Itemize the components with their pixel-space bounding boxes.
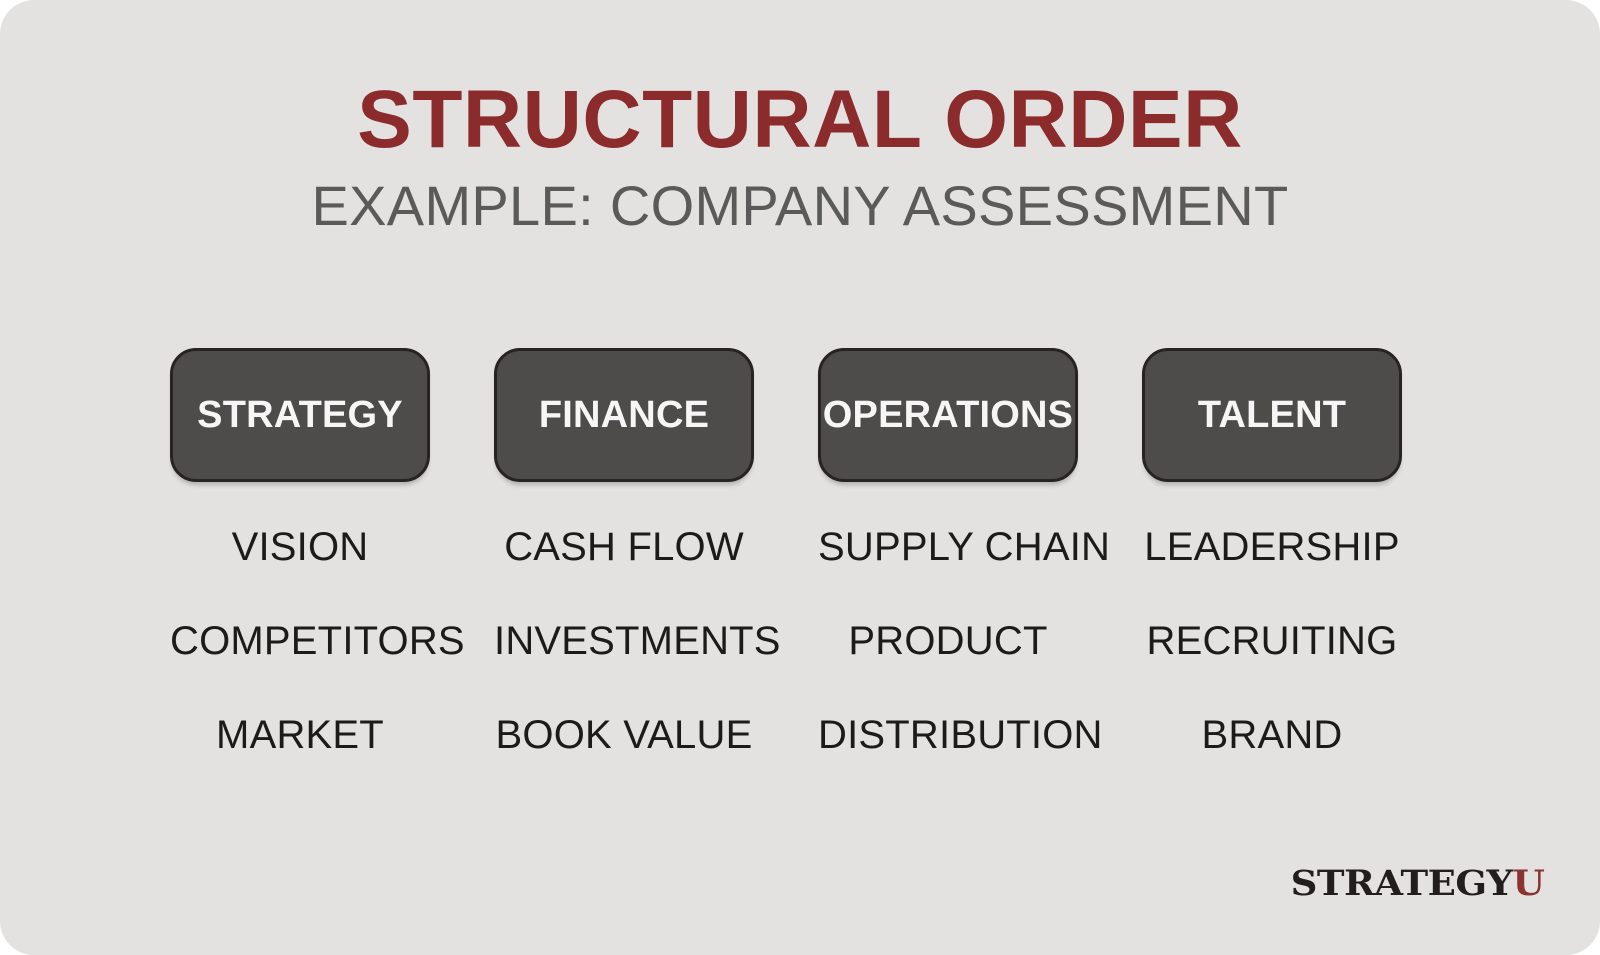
- list-item: COMPETITORS: [170, 594, 430, 688]
- list-item: LEADERSHIP: [1142, 500, 1402, 594]
- category-label: OPERATIONS: [823, 395, 1073, 435]
- list-item: SUPPLY CHAIN: [818, 500, 1078, 594]
- list-item: BRAND: [1142, 688, 1402, 782]
- category-label: FINANCE: [539, 395, 709, 435]
- column-talent: TALENT LEADERSHIP RECRUITING BRAND: [1142, 348, 1402, 798]
- item-list-talent: LEADERSHIP RECRUITING BRAND: [1142, 482, 1402, 782]
- list-item: DISTRIBUTION: [818, 688, 1078, 782]
- category-label: TALENT: [1198, 395, 1346, 435]
- slide-canvas: STRUCTURAL ORDER EXAMPLE: COMPANY ASSESS…: [0, 0, 1600, 955]
- item-list-operations: SUPPLY CHAIN PRODUCT DISTRIBUTION: [818, 482, 1078, 782]
- category-box-operations[interactable]: OPERATIONS: [818, 348, 1078, 482]
- strategyu-logo[interactable]: STRATEGYU: [1288, 857, 1544, 901]
- category-columns: STRATEGY VISION COMPETITORS MARKET FINAN…: [170, 348, 1402, 798]
- category-label: STRATEGY: [197, 395, 403, 435]
- category-box-talent[interactable]: TALENT: [1142, 348, 1402, 482]
- logo-text-accent: U: [1512, 863, 1544, 904]
- logo-text-main: STRATEGY: [1290, 863, 1512, 904]
- list-item: CASH FLOW: [494, 500, 754, 594]
- category-box-finance[interactable]: FINANCE: [494, 348, 754, 482]
- column-finance: FINANCE CASH FLOW INVESTMENTS BOOK VALUE: [494, 348, 754, 798]
- page-subtitle: EXAMPLE: COMPANY ASSESSMENT: [0, 168, 1600, 238]
- item-list-strategy: VISION COMPETITORS MARKET: [170, 482, 430, 782]
- item-list-finance: CASH FLOW INVESTMENTS BOOK VALUE: [494, 482, 754, 782]
- column-operations: OPERATIONS SUPPLY CHAIN PRODUCT DISTRIBU…: [818, 348, 1078, 798]
- logo-wordmark: STRATEGYU: [1290, 866, 1544, 901]
- list-item: PRODUCT: [818, 594, 1078, 688]
- column-strategy: STRATEGY VISION COMPETITORS MARKET: [170, 348, 430, 798]
- header: STRUCTURAL ORDER EXAMPLE: COMPANY ASSESS…: [0, 0, 1600, 238]
- list-item: RECRUITING: [1142, 594, 1402, 688]
- list-item: INVESTMENTS: [494, 594, 754, 688]
- list-item: VISION: [170, 500, 430, 594]
- list-item: MARKET: [170, 688, 430, 782]
- list-item: BOOK VALUE: [494, 688, 754, 782]
- page-title: STRUCTURAL ORDER: [0, 0, 1600, 168]
- category-box-strategy[interactable]: STRATEGY: [170, 348, 430, 482]
